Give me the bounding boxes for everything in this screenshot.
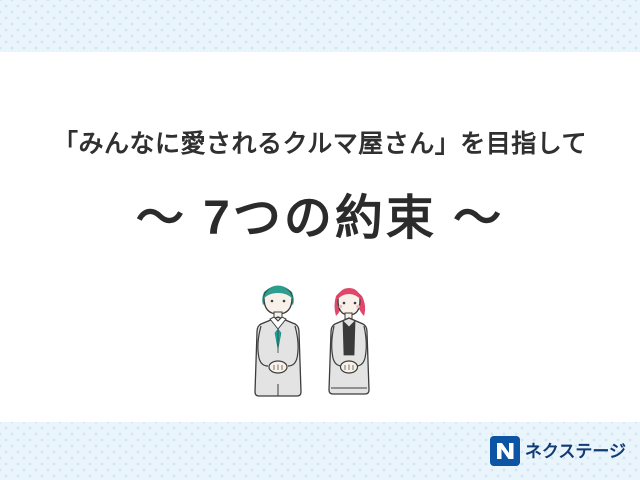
page-subtitle: 〜 7つの約束 〜 <box>0 178 640 248</box>
page-title: 「みんなに愛されるクルマ屋さん」を目指して <box>0 124 640 160</box>
two-staff-illustration <box>236 272 406 424</box>
brand-logo-text: ネクステージ <box>525 443 626 460</box>
male-staff-figure <box>255 286 301 397</box>
dotted-band-top <box>0 0 640 52</box>
female-staff-figure <box>329 288 369 394</box>
brand-logo: ネクステージ <box>490 436 626 466</box>
slide-canvas: 「みんなに愛されるクルマ屋さん」を目指して 〜 7つの約束 〜 <box>0 0 640 480</box>
nextage-logo-mark-icon <box>490 436 520 466</box>
